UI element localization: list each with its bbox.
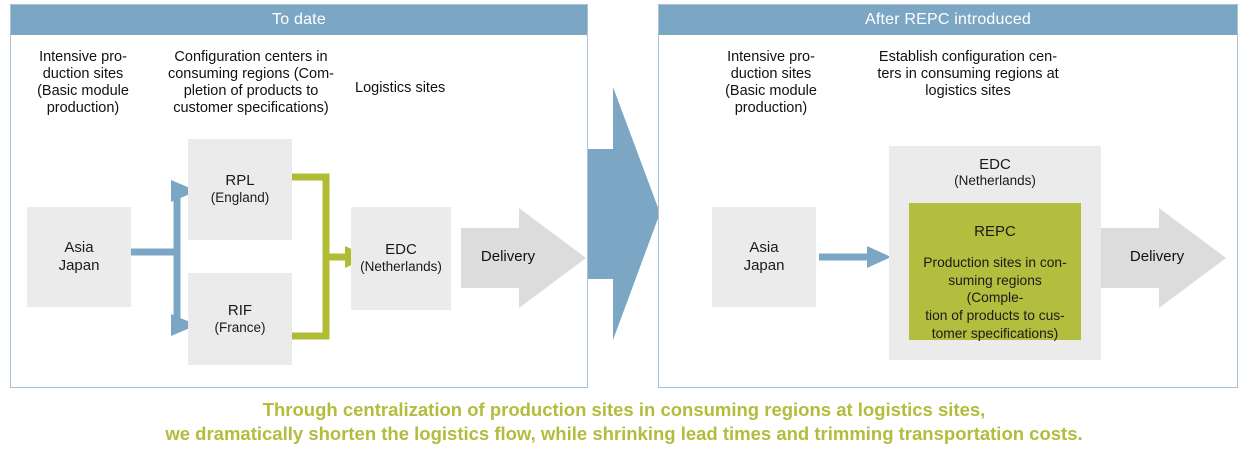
caption-intensive-production-sites-right: Intensive pro- duction sites (Basic modu… [707, 49, 835, 117]
panel-after-repc: After REPC introduced Intensive pro- duc… [658, 4, 1238, 388]
panel-after-repc-body: Intensive pro- duction sites (Basic modu… [659, 36, 1237, 387]
box-repc: REPC Production sites in con- suming reg… [909, 203, 1081, 340]
box-rpl-england: RPL (England) [188, 139, 292, 240]
box-edc-netherlands-right: EDC (Netherlands) REPC Production sites … [889, 146, 1101, 360]
summary-caption: Through centralization of production sit… [0, 398, 1248, 447]
big-blue-right-arrow [588, 87, 660, 340]
panel-after-repc-header: After REPC introduced [659, 5, 1237, 35]
panel-to-date-body: Intensive pro- duction sites (Basic modu… [11, 36, 587, 387]
panel-to-date-title: To date [272, 11, 326, 29]
caption-logistics-sites: Logistics sites [355, 80, 485, 97]
box-asia-japan-right: Asia Japan [712, 207, 816, 307]
blue-connector-arrow-right [819, 246, 891, 268]
caption-intensive-production-sites: Intensive pro- duction sites (Basic modu… [19, 49, 147, 117]
caption-configuration-centers: Configuration centers in consuming regio… [151, 49, 351, 117]
edc-right-heading: EDC (Netherlands) [889, 156, 1101, 188]
panel-after-repc-title: After REPC introduced [865, 11, 1031, 29]
caption-establish-config-centers: Establish configuration cen- ters in con… [855, 49, 1081, 100]
delivery-label-right: Delivery [1122, 248, 1192, 265]
panel-to-date: To date Intensive pro- duction sites (Ba… [10, 4, 588, 388]
summary-caption-line-2: we dramatically shorten the logistics fl… [0, 422, 1248, 446]
summary-caption-line-1: Through centralization of production sit… [0, 398, 1248, 422]
box-asia-japan-left: Asia Japan [27, 207, 131, 307]
panel-to-date-header: To date [11, 5, 587, 35]
box-rif-france: RIF (France) [188, 273, 292, 365]
repc-body-text: Production sites in con- suming regions … [909, 254, 1081, 342]
delivery-label-left: Delivery [475, 248, 541, 265]
box-edc-netherlands-left: EDC (Netherlands) [351, 207, 451, 310]
